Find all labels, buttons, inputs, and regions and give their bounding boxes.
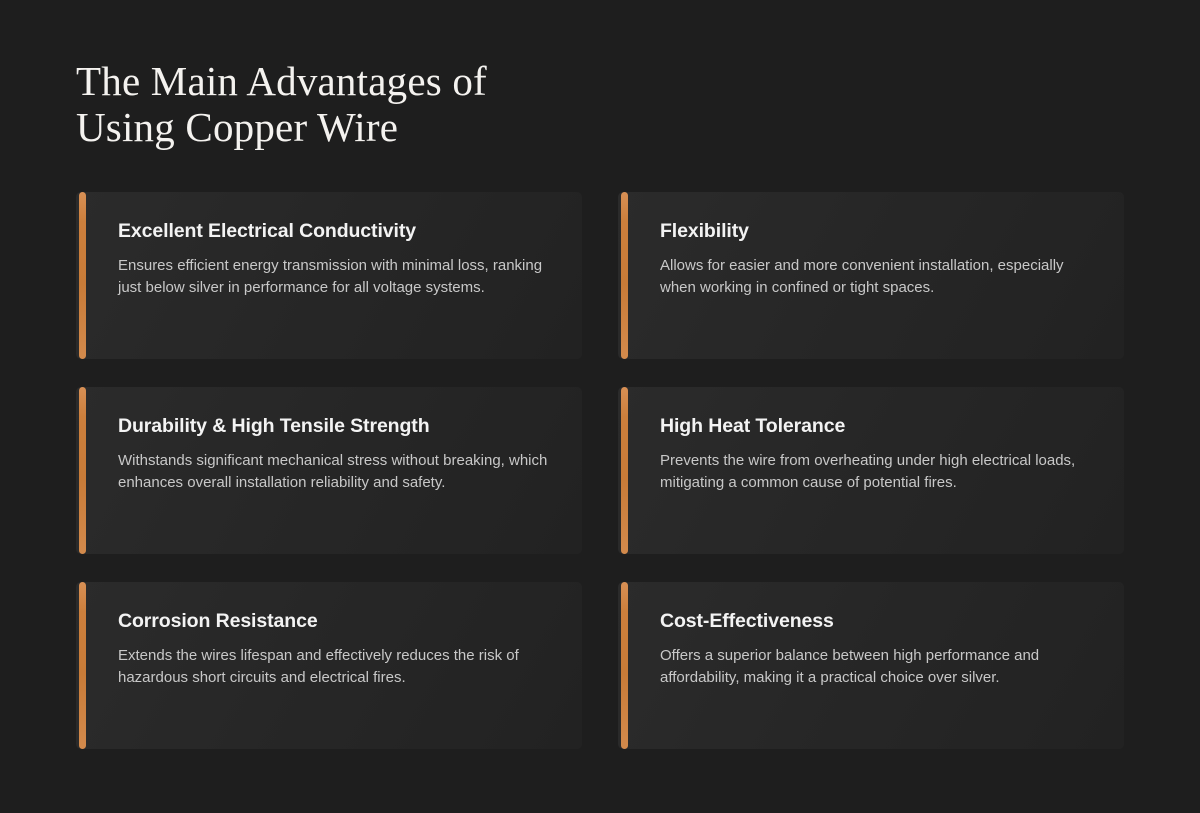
accent-bar-icon: [79, 582, 86, 749]
accent-bar-icon: [79, 192, 86, 359]
card-body: Ensures efficient energy transmission wi…: [118, 255, 552, 299]
accent-bar-icon: [621, 387, 628, 554]
card-heading: Durability & High Tensile Strength: [118, 414, 552, 438]
card-heading: Corrosion Resistance: [118, 609, 552, 633]
advantage-card: Excellent Electrical Conductivity Ensure…: [76, 192, 582, 359]
advantage-card: Flexibility Allows for easier and more c…: [618, 192, 1124, 359]
card-body: Withstands significant mechanical stress…: [118, 450, 552, 494]
card-body: Extends the wires lifespan and effective…: [118, 645, 552, 689]
card-body: Allows for easier and more convenient in…: [660, 255, 1094, 299]
accent-bar-icon: [621, 192, 628, 359]
card-heading: Cost-Effectiveness: [660, 609, 1094, 633]
page-title: The Main Advantages of Using Copper Wire: [76, 58, 776, 150]
card-heading: High Heat Tolerance: [660, 414, 1094, 438]
card-body: Prevents the wire from overheating under…: [660, 450, 1094, 494]
card-body: Offers a superior balance between high p…: [660, 645, 1094, 689]
advantage-card: Durability & High Tensile Strength Withs…: [76, 387, 582, 554]
advantages-grid: Excellent Electrical Conductivity Ensure…: [76, 192, 1124, 749]
advantage-card: Cost-Effectiveness Offers a superior bal…: [618, 582, 1124, 749]
card-heading: Excellent Electrical Conductivity: [118, 219, 552, 243]
accent-bar-icon: [79, 387, 86, 554]
advantage-card: Corrosion Resistance Extends the wires l…: [76, 582, 582, 749]
advantage-card: High Heat Tolerance Prevents the wire fr…: [618, 387, 1124, 554]
infographic-page: The Main Advantages of Using Copper Wire…: [0, 0, 1200, 813]
accent-bar-icon: [621, 582, 628, 749]
card-heading: Flexibility: [660, 219, 1094, 243]
title-block: The Main Advantages of Using Copper Wire: [76, 58, 776, 150]
